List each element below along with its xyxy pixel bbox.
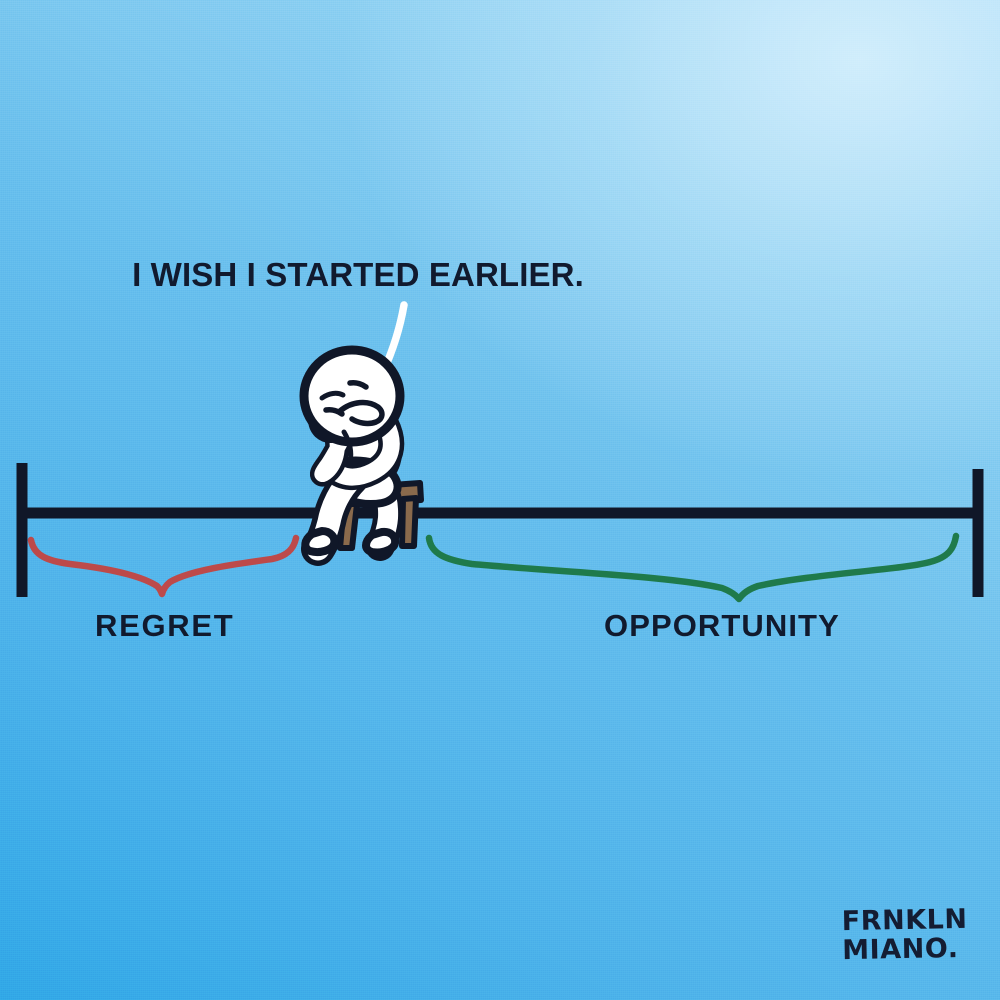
opportunity-bracket bbox=[429, 536, 956, 599]
thought-text: I WISH I STARTED EARLIER. bbox=[0, 258, 858, 291]
artist-signature: FRNKLN MIANO. bbox=[842, 906, 969, 965]
figure-front-foot bbox=[305, 531, 334, 552]
illustration-vector-layer bbox=[0, 0, 1000, 1000]
figure-head bbox=[304, 350, 400, 442]
signature-line-1: FRNKLN bbox=[842, 906, 968, 937]
label-opportunity: OPPORTUNITY bbox=[604, 610, 840, 641]
signature-line-2: MIANO. bbox=[842, 934, 968, 965]
illustration-canvas: I WISH I STARTED EARLIER. REGRET OPPORTU… bbox=[0, 0, 1000, 1000]
label-regret: REGRET bbox=[95, 610, 234, 641]
regret-bracket bbox=[31, 538, 296, 594]
figure-back-foot bbox=[366, 532, 395, 553]
